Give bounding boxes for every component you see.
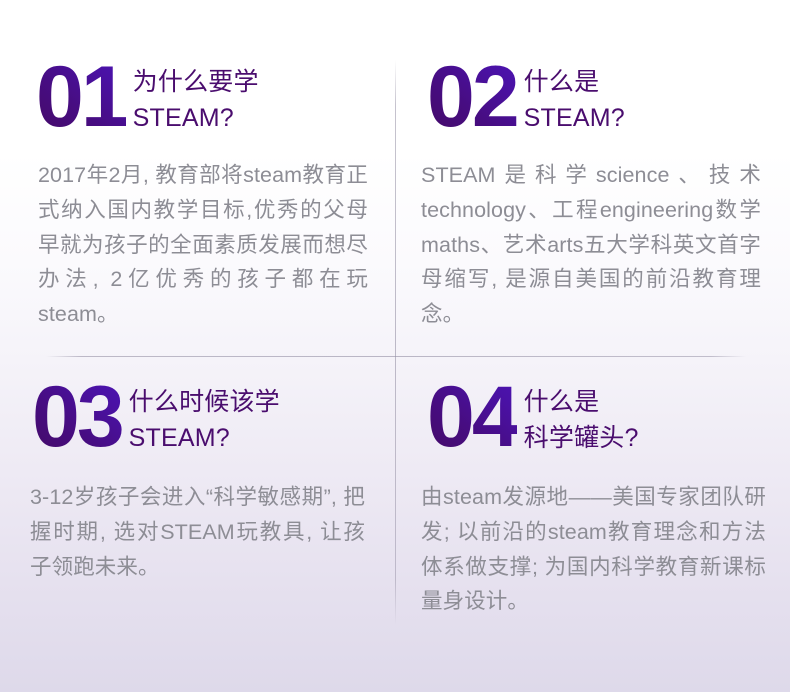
faq-grid: 01 为什么要学 STEAM? 2017年2月, 教育部将steam教育正式纳入… [0,0,790,692]
faq-body-03: 3-12岁孩子会进入“科学敏感期”, 把握时期, 选对STEAM玩教具, 让孩子… [30,480,365,584]
faq-card-04-header: 04 什么是 科学罐头? [419,378,764,458]
faq-card-01: 01 为什么要学 STEAM? 2017年2月, 教育部将steam教育正式纳入… [0,0,395,356]
faq-heading-03-line1: 什么时候该学 [129,388,280,416]
faq-body-01: 2017年2月, 教育部将steam教育正式纳入国内教学目标,优秀的父母早就为孩… [38,158,368,332]
faq-heading-01-line2: STEAM? [133,101,259,137]
faq-heading-04-line2: 科学罐头? [524,421,639,457]
faq-heading-02: 什么是 STEAM? [524,58,625,136]
faq-heading-01: 为什么要学 STEAM? [133,58,259,136]
faq-number-04: 04 [427,378,517,458]
faq-number-01: 01 [36,58,126,138]
faq-heading-04-line1: 什么是 [524,388,600,416]
faq-heading-01-line1: 为什么要学 [133,68,259,96]
faq-number-02: 02 [427,58,517,138]
faq-body-02: STEAM是科学science、技术technology、工程engineeri… [421,158,761,332]
faq-card-02: 02 什么是 STEAM? STEAM是科学science、技术technolo… [395,0,790,356]
steam-faq-poster: 01 为什么要学 STEAM? 2017年2月, 教育部将steam教育正式纳入… [0,0,790,692]
faq-card-03-header: 03 什么时候该学 STEAM? [26,378,361,458]
faq-card-01-header: 01 为什么要学 STEAM? [36,58,361,138]
faq-body-04: 由steam发源地——美国专家团队研发; 以前沿的steam教育理念和方法体系做… [421,480,766,619]
faq-heading-02-line2: STEAM? [524,101,625,137]
faq-card-04: 04 什么是 科学罐头? 由steam发源地——美国专家团队研发; 以前沿的st… [395,356,790,692]
faq-heading-03: 什么时候该学 STEAM? [129,378,280,456]
faq-number-03: 03 [32,378,122,458]
faq-heading-04: 什么是 科学罐头? [524,378,639,456]
faq-card-02-header: 02 什么是 STEAM? [419,58,764,138]
faq-card-03: 03 什么时候该学 STEAM? 3-12岁孩子会进入“科学敏感期”, 把握时期… [0,356,395,692]
faq-heading-03-line2: STEAM? [129,421,280,457]
faq-heading-02-line1: 什么是 [524,68,600,96]
